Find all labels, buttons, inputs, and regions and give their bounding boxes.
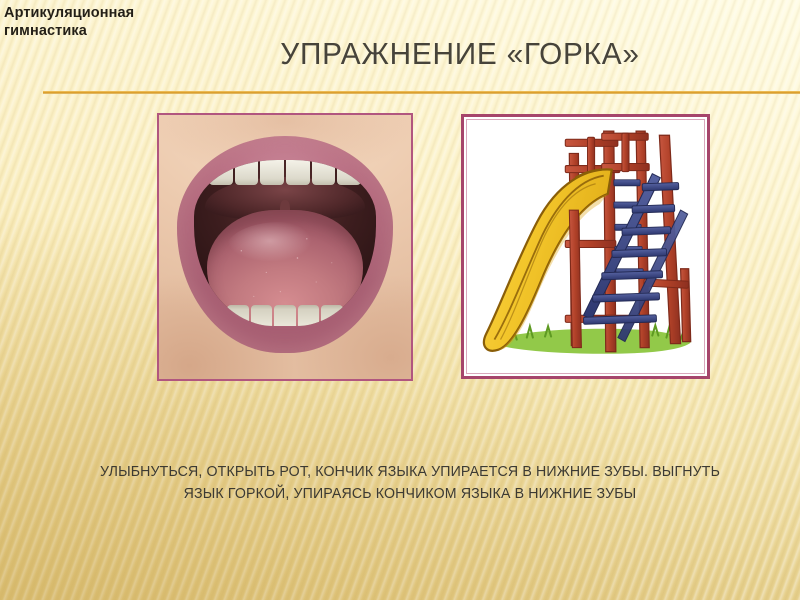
tooth bbox=[337, 160, 361, 185]
tooth bbox=[274, 305, 296, 327]
tooth bbox=[286, 160, 310, 185]
tooth bbox=[209, 160, 233, 185]
lower-teeth bbox=[227, 305, 343, 327]
tooth bbox=[321, 305, 343, 327]
presentation-slide: Артикуляционная гимнастика УПРАЖНЕНИЕ «Г… bbox=[0, 0, 800, 600]
exercise-instructions: УЛЫБНУТЬСЯ, ОТКРЫТЬ РОТ, КОНЧИК ЯЗЫКА УП… bbox=[100, 462, 721, 505]
playground-slide-illustration bbox=[461, 114, 710, 379]
tooth bbox=[227, 305, 249, 327]
slide-kicker: Артикуляционная гимнастика bbox=[4, 4, 209, 41]
upper-teeth bbox=[209, 160, 361, 185]
tooth bbox=[298, 305, 320, 327]
tooth bbox=[251, 305, 273, 327]
title-divider-rule bbox=[43, 91, 800, 94]
open-mouth-tongue-photo bbox=[157, 113, 413, 381]
tooth bbox=[312, 160, 336, 185]
tooth bbox=[260, 160, 284, 185]
oral-cavity bbox=[194, 160, 375, 326]
page-title: УПРАЖНЕНИЕ «ГОРКА» bbox=[162, 38, 757, 69]
playground-slide-drawing bbox=[464, 117, 707, 376]
mouth-photo-content bbox=[159, 115, 411, 379]
tooth bbox=[235, 160, 259, 185]
